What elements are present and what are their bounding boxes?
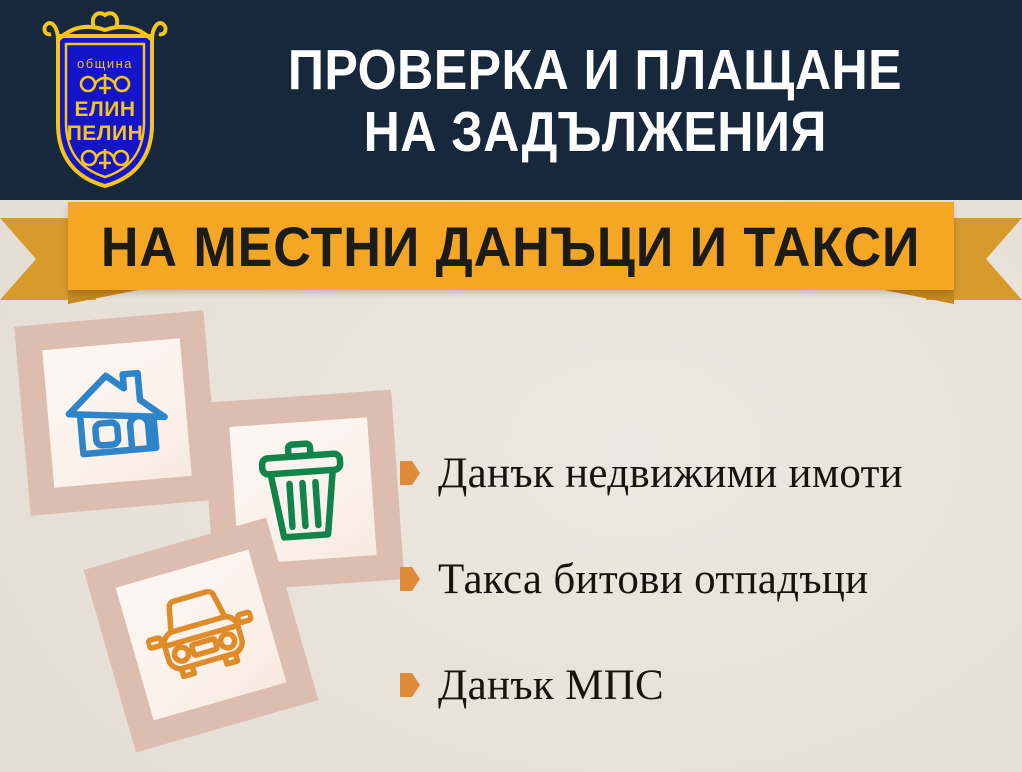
ribbon-label: НА МЕСТНИ ДАНЪЦИ И ТАКСИ — [101, 214, 921, 279]
svg-text:ЕЛИН: ЕЛИН — [74, 98, 135, 121]
poster-canvas: община ЕЛИН ПЕЛИН ПРОВЕРКА И ПЛАЩАНЕ НА … — [0, 0, 1022, 772]
page-title: ПРОВЕРКА И ПЛАЩАНЕ НА ЗАДЪЛЖЕНИЯ — [180, 16, 1010, 186]
title-line-2: НА ЗАДЪЛЖЕНИЯ — [363, 101, 826, 163]
arrow-bullet-icon — [400, 461, 420, 485]
tax-type-list: Данък недвижими имоти Такса битови отпад… — [400, 420, 1010, 738]
ribbon-banner: НА МЕСТНИ ДАНЪЦИ И ТАКСИ — [68, 202, 954, 290]
title-line-1: ПРОВЕРКА И ПЛАЩАНЕ — [288, 39, 902, 101]
list-item[interactable]: Такса битови отпадъци — [400, 526, 1010, 632]
header-bar: община ЕЛИН ПЕЛИН ПРОВЕРКА И ПЛАЩАНЕ НА … — [0, 0, 1022, 200]
arrow-bullet-icon — [400, 673, 420, 697]
list-item[interactable]: Данък недвижими имоти — [400, 420, 1010, 526]
ribbon-fold-right — [884, 290, 954, 304]
svg-text:ПЕЛИН: ПЕЛИН — [67, 122, 144, 145]
svg-text:община: община — [77, 56, 133, 71]
municipality-logo: община ЕЛИН ПЕЛИН — [38, 6, 172, 192]
house-icon — [42, 338, 192, 488]
list-item-label: Такса битови отпадъци — [438, 555, 868, 604]
list-item-label: Данък МПС — [438, 661, 664, 710]
list-item-label: Данък недвижими имоти — [438, 449, 903, 498]
arrow-bullet-icon — [400, 567, 420, 591]
stamp-card-property — [14, 310, 220, 516]
list-item[interactable]: Данък МПС — [400, 632, 1010, 738]
ribbon-fold-left — [68, 290, 138, 304]
